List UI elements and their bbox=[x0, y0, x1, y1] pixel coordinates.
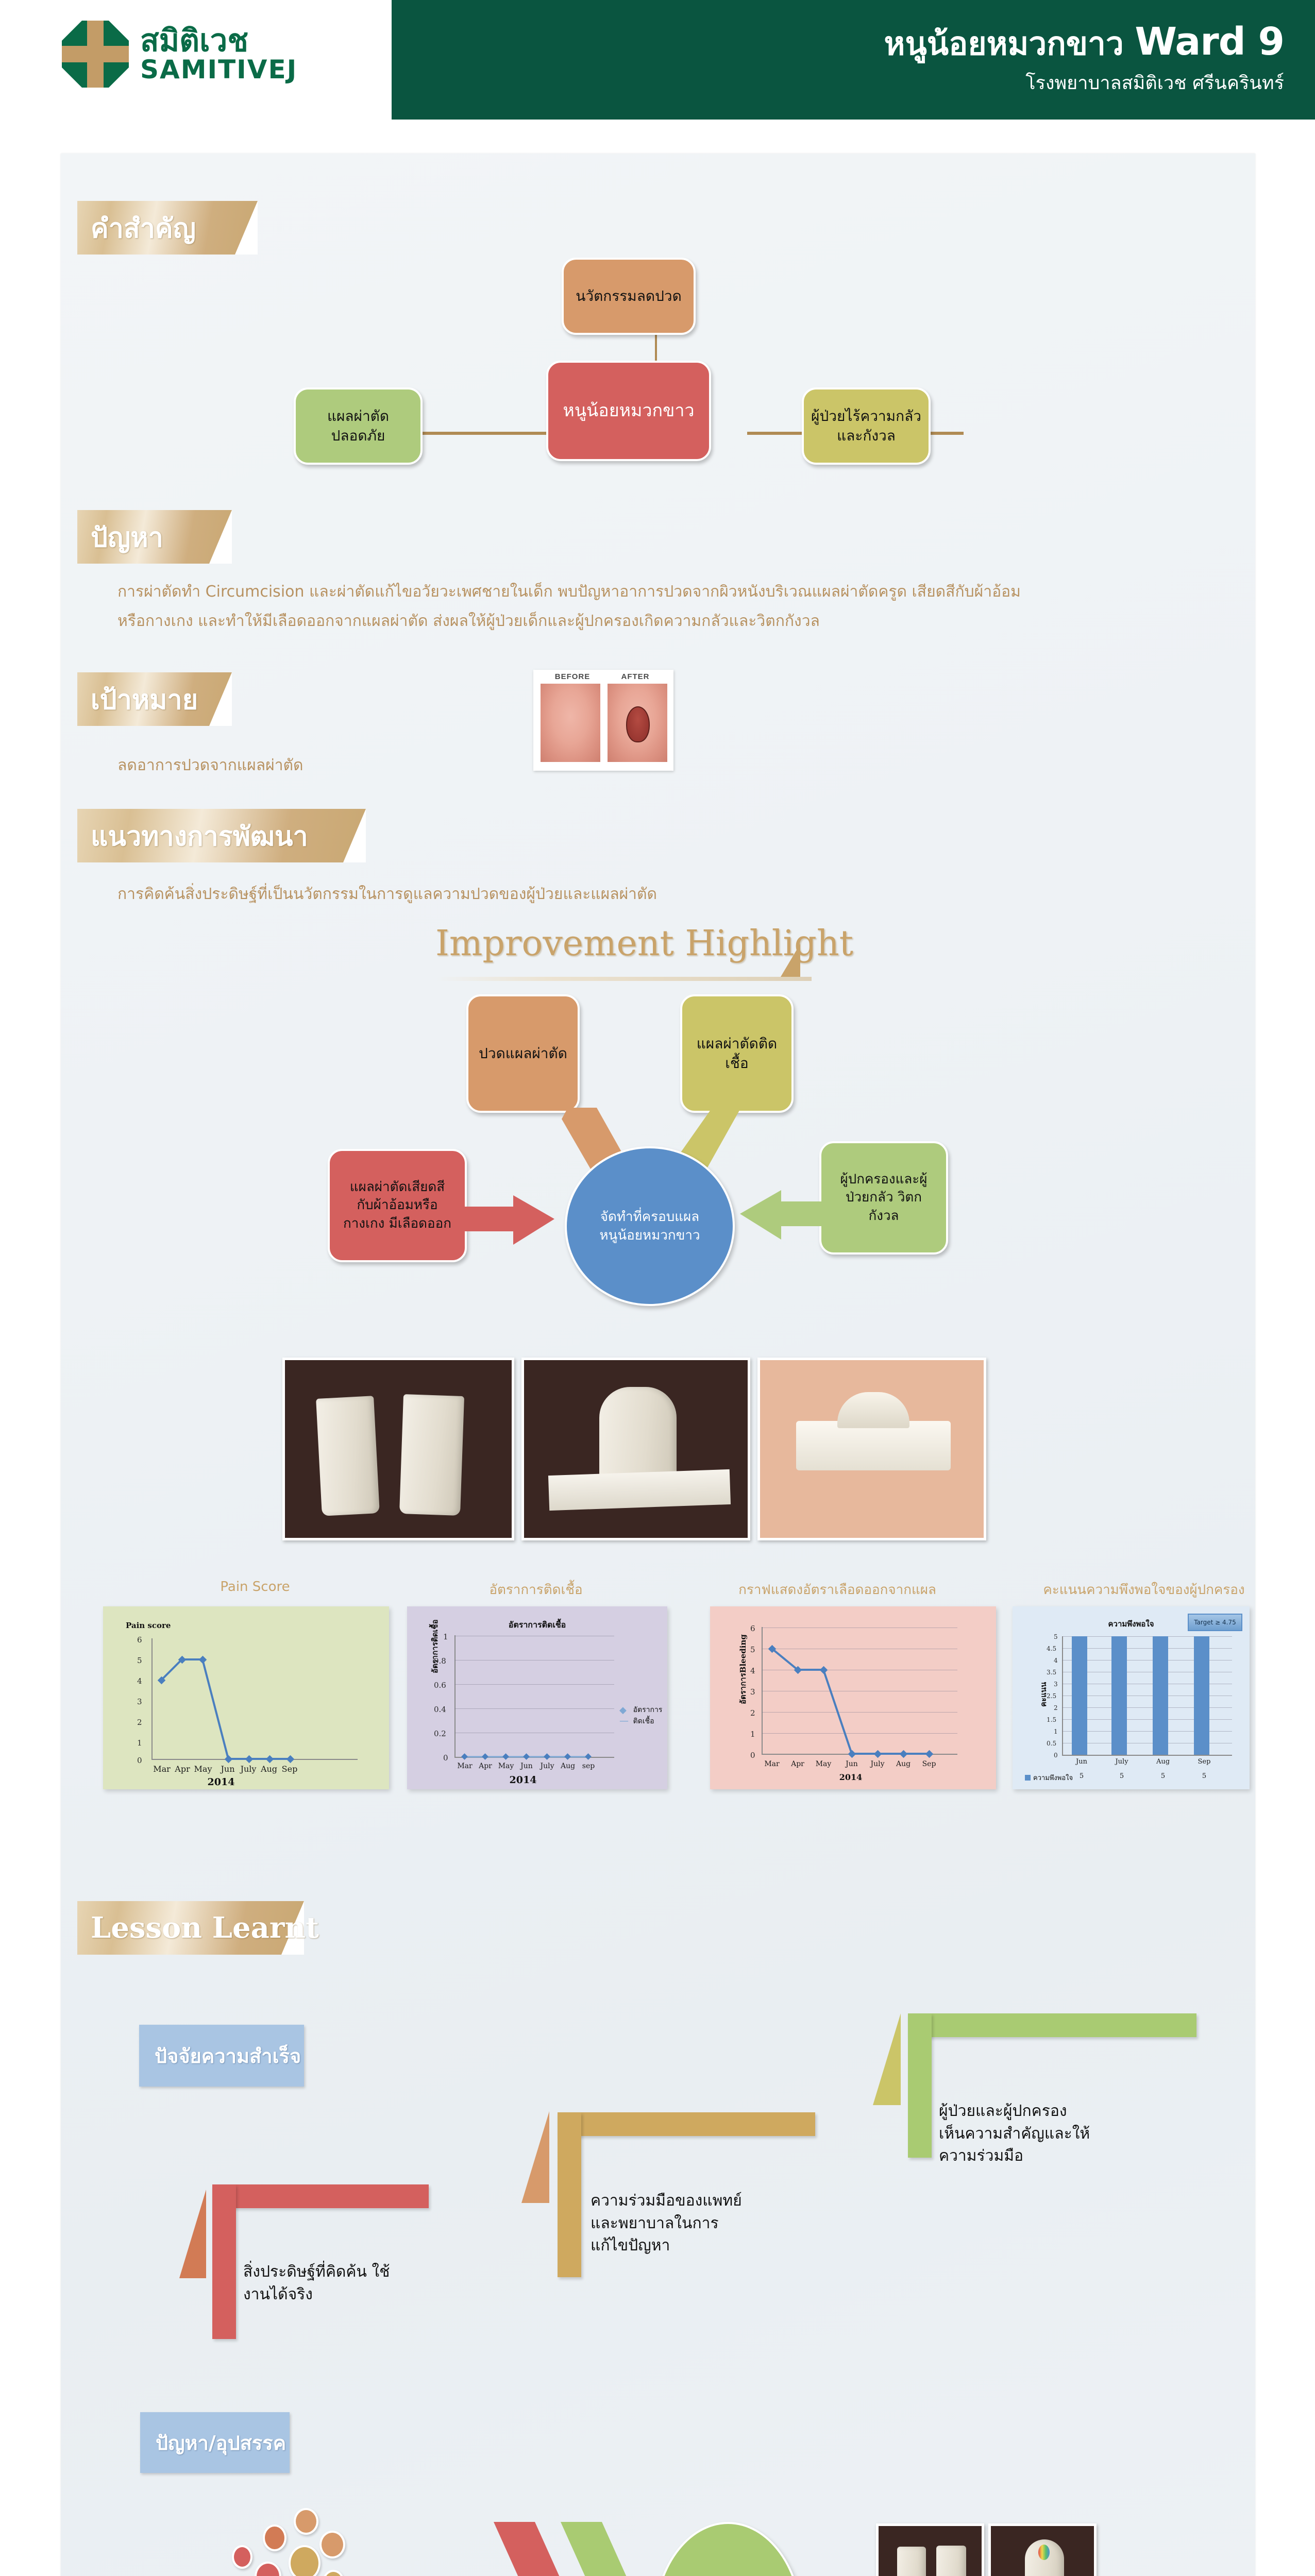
section-label-goal: เป้าหมาย bbox=[91, 678, 198, 721]
cartoon-photo-balloon-cup bbox=[988, 2523, 1097, 2576]
page-title-thai: หนูน้อยหมวกขาว bbox=[884, 25, 1123, 62]
improvement-center-ellipse: จัดทำที่ครอบแผล หนูน้อยหมวกขาว bbox=[565, 1146, 735, 1306]
keyword-no-fear-label: ผู้ป่วยไร้ความกลัว และกังวล bbox=[811, 406, 921, 446]
chart-1-card: Pain score 6 5 4 3 2 1 0 Mar Apr May Jun… bbox=[103, 1606, 389, 1789]
keyword-box-innovation: นวัตกรรมลดปวด bbox=[562, 258, 696, 335]
keyword-innovation-label: นวัตกรรมลดปวด bbox=[576, 286, 682, 306]
chart-4-bar-aug bbox=[1153, 1636, 1168, 1755]
section-ribbon-keywords: คำสำคัญ bbox=[77, 201, 258, 255]
factor-text-patients: ผู้ป่วยและผู้ปกครอง เห็นความสำคัญและให้ … bbox=[939, 2100, 1217, 2167]
improvement-highlight-title: Improvement Highlight bbox=[435, 923, 806, 964]
chart-1-card-title: Pain Score bbox=[100, 1579, 410, 1595]
before-after-card: BEFORE AFTER bbox=[533, 670, 673, 771]
improvement-friction-label: แผลผ่าตัดเสียดสี กับผ้าอ้อมหรือ กางเกง ม… bbox=[343, 1178, 451, 1232]
medical-cross-icon bbox=[62, 21, 129, 88]
after-label: AFTER bbox=[610, 672, 661, 681]
factor-triangle-patients bbox=[873, 2013, 901, 2105]
page-header: หนูน้อยหมวกขาว Ward 9 โรงพยาบาลสมิติเวช … bbox=[0, 0, 1315, 130]
keyword-center-label: หนูน้อยหมวกขาว bbox=[563, 399, 694, 423]
chevron-arrows bbox=[488, 2522, 653, 2576]
chart-2-card: อัตราการติดเชื้อ อัตราการติดเชื้อ 1 0.8 … bbox=[407, 1606, 667, 1789]
factor-triangle-teamwork bbox=[521, 2111, 549, 2203]
chart-4-bar-sep bbox=[1194, 1636, 1209, 1755]
chart-4-xaxis bbox=[1062, 1755, 1232, 1756]
product-photo-on-patient bbox=[757, 1358, 986, 1540]
chart-4-bar-jun bbox=[1072, 1636, 1087, 1755]
arrow-left-to-center bbox=[464, 1195, 562, 1252]
chart-4-target-badge: Target ≥ 4.75 bbox=[1188, 1614, 1242, 1631]
chart-1-series bbox=[103, 1606, 389, 1789]
goal-text: ลดอาการปวดจากแผลผ่าตัด bbox=[117, 752, 581, 779]
section-ribbon-goal: เป้าหมาย bbox=[77, 672, 232, 726]
improvement-box-infection: แผลผ่าตัดติดเชื้อ bbox=[680, 994, 794, 1113]
chart-3-card-title: กราฟแสดงอัตราเลือดออกจากแผล bbox=[678, 1579, 997, 1600]
obstacle-label: ปัญหา/อุปสรรค bbox=[156, 2427, 286, 2459]
improvement-highlight-triangle-icon bbox=[781, 944, 800, 977]
section-label-lesson: Lesson Learnt bbox=[91, 1911, 319, 1945]
section-label-problem: ปัญหา bbox=[91, 516, 163, 558]
obstacle-header: ปัญหา/อุปสรรค bbox=[140, 2412, 290, 2473]
chart-4-card-title: คะแนนความพึงพอใจของผู้ปกครอง bbox=[1000, 1579, 1288, 1600]
logo-english-text: SAMITIVEJ bbox=[140, 56, 297, 83]
chart-3-card: อัตราการBleeding 6 5 4 3 2 1 0 Mar Apr M… bbox=[710, 1606, 996, 1789]
improvement-pain-label: ปวดแผลผ่าตัด bbox=[479, 1044, 567, 1063]
section-ribbon-lesson: Lesson Learnt bbox=[77, 1901, 304, 1955]
page-subtitle: โรงพยาบาลสมิติเวช ศรีนครินทร์ bbox=[1025, 68, 1284, 97]
problem-text-line1: การผ่าตัดทำ Circumcision และผ่าตัดแก้ไขอ… bbox=[117, 579, 1230, 606]
page-title-ward: Ward 9 bbox=[1135, 20, 1284, 64]
chart-4-bar-july bbox=[1111, 1636, 1127, 1755]
logo-thai-text: สมิติเวช bbox=[140, 25, 297, 56]
factor-text-teamwork: ความร่วมมือของแพทย์ และพยาบาลในการ แก้ไข… bbox=[591, 2190, 833, 2257]
section-label-keywords: คำสำคัญ bbox=[91, 207, 196, 249]
success-factors-label: ปัจจัยความสำเร็จ bbox=[155, 2040, 301, 2072]
samitivej-logo: สมิติเวช SAMITIVEJ bbox=[62, 21, 297, 88]
arrow-right-to-center bbox=[738, 1190, 831, 1247]
dot-decoration bbox=[263, 2524, 286, 2551]
improvement-anxiety-label: ผู้ปกครองและผู้ ป่วยกลัว วิตก กังวล bbox=[840, 1171, 927, 1225]
before-photo bbox=[541, 684, 600, 762]
problem-text-line2: หรือกางเกง และทำให้มีเลือดออกจากแผลผ่าตั… bbox=[117, 608, 1230, 635]
improvement-box-anxiety: ผู้ปกครองและผู้ ป่วยกลัว วิตก กังวล bbox=[819, 1141, 948, 1255]
chart-3-xlabel: 2014 bbox=[822, 1772, 879, 1782]
success-factors-header: ปัจจัยความสำเร็จ bbox=[139, 2025, 304, 2087]
improvement-infection-label: แผลผ่าตัดติดเชื้อ bbox=[689, 1034, 784, 1073]
dot-decoration bbox=[232, 2545, 252, 2569]
approach-text: การคิดค้นสิ่งประดิษฐ์ที่เป็นนวัตกรรมในกา… bbox=[117, 881, 1097, 908]
improvement-highlight-rule bbox=[435, 977, 812, 981]
dot-decoration bbox=[289, 2545, 321, 2576]
product-photo-cups bbox=[282, 1358, 514, 1540]
section-ribbon-problem: ปัญหา bbox=[77, 510, 232, 564]
section-label-approach: แนวทางการพัฒนา bbox=[91, 815, 308, 857]
chart-4-card: ความพึงพอใจ Target ≥ 4.75 คะแนน 5 4.5 4 … bbox=[1013, 1606, 1250, 1789]
keyword-box-no-fear: ผู้ป่วยไร้ความกลัว และกังวล bbox=[802, 387, 931, 465]
factor-triangle-invention bbox=[179, 2190, 206, 2278]
section-ribbon-approach: แนวทางการพัฒนา bbox=[77, 809, 366, 862]
chart-2-legend: ◆— อัตราการติดเชื้อ bbox=[619, 1704, 667, 1727]
improvement-center-label: จัดทำที่ครอบแผล หนูน้อยหมวกขาว bbox=[599, 1208, 700, 1245]
chart-2-card-title: อัตราการติดเชื้อ bbox=[392, 1579, 680, 1600]
improvement-box-friction: แผลผ่าตัดเสียดสี กับผ้าอ้อมหรือ กางเกง ม… bbox=[328, 1149, 467, 1262]
before-label: BEFORE bbox=[547, 672, 598, 681]
dot-decoration bbox=[294, 2508, 318, 2535]
keyword-box-center: หนูน้อยหมวกขาว bbox=[546, 361, 711, 461]
factor-text-invention: สิ่งประดิษฐ์ที่คิดค้น ใช้ งานได้จริง bbox=[243, 2261, 449, 2306]
keyword-safe-wound-label: แผลผ่าตัดปลอดภัย bbox=[303, 406, 413, 446]
chart-2-xlabel: 2014 bbox=[495, 1774, 551, 1786]
cartoon-photo-plain-cups bbox=[876, 2523, 984, 2576]
header-green-band: หนูน้อยหมวกขาว Ward 9 โรงพยาบาลสมิติเวช … bbox=[392, 0, 1315, 120]
improvement-box-pain: ปวดแผลผ่าตัด bbox=[466, 994, 580, 1113]
product-photo-with-strap bbox=[521, 1358, 750, 1540]
after-photo bbox=[608, 684, 667, 762]
keyword-box-safe-wound: แผลผ่าตัดปลอดภัย bbox=[294, 387, 423, 465]
page-title: หนูน้อยหมวกขาว Ward 9 bbox=[884, 19, 1284, 69]
dot-decoration bbox=[319, 2531, 345, 2558]
chart-1-xlabel: 2014 bbox=[193, 1776, 249, 1788]
